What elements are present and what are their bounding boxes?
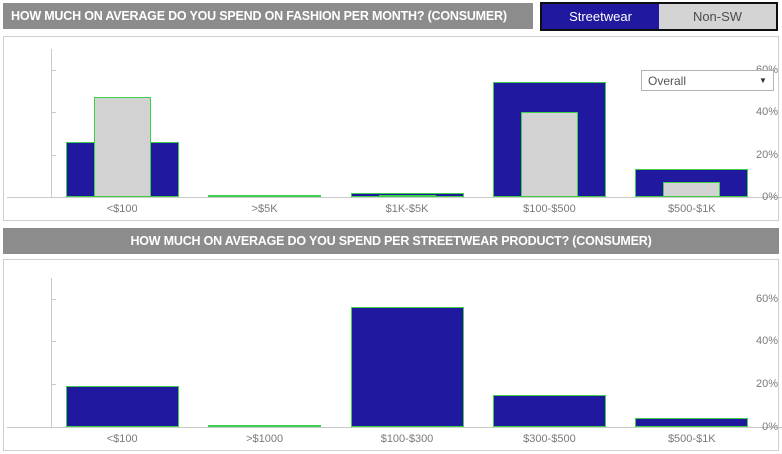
toggle-streetwear[interactable]: Streetwear	[542, 4, 659, 29]
y-axis-tick-mark	[51, 112, 56, 113]
bar-non-sw[interactable]	[521, 112, 578, 197]
plot-area-chart1: 0%20%40%60%<$100>$5K$1K-$5K$100-$500$500…	[4, 37, 778, 220]
bar-non-sw[interactable]	[236, 195, 293, 198]
bar-non-sw[interactable]	[663, 182, 720, 197]
segment-toggle-group: Streetwear Non-SW	[540, 2, 778, 31]
x-axis-tick-label: $100-$500	[523, 203, 576, 215]
y-axis-tick-mark	[51, 155, 56, 156]
chart-panel-spend-per-product: 0%20%40%60%<$100>$1000$100-$300$300-$500…	[3, 259, 779, 451]
y-axis-line	[51, 49, 52, 197]
x-axis-tick-label: $500-$1K	[668, 433, 716, 445]
x-axis-tick-label: $300-$500	[523, 433, 576, 445]
y-axis-tick-label: 40%	[737, 335, 778, 347]
x-axis-line	[7, 197, 782, 198]
y-axis-tick-mark	[51, 299, 56, 300]
y-axis-tick-label: 20%	[737, 149, 778, 161]
bar-non-sw[interactable]	[94, 97, 151, 197]
y-axis-tick-mark	[51, 70, 56, 71]
x-axis-tick-label: $1K-$5K	[386, 203, 429, 215]
x-axis-tick-label: <$100	[107, 433, 138, 445]
top-bar: HOW MUCH ON AVERAGE DO YOU SPEND ON FASH…	[0, 0, 782, 32]
page-title: HOW MUCH ON AVERAGE DO YOU SPEND ON FASH…	[3, 3, 533, 29]
page-title-2: HOW MUCH ON AVERAGE DO YOU SPEND PER STR…	[3, 228, 779, 254]
y-axis-tick-label: 40%	[737, 106, 778, 118]
x-axis-tick-label: $100-$300	[381, 433, 434, 445]
x-axis-tick-label: >$5K	[252, 203, 278, 215]
x-axis-tick-label: >$1000	[246, 433, 283, 445]
bar-streetwear[interactable]	[635, 418, 748, 427]
chart-panel-spend-per-month: 0%20%40%60%<$100>$5K$1K-$5K$100-$500$500…	[3, 36, 779, 221]
y-axis-tick-label: 20%	[737, 378, 778, 390]
bar-streetwear[interactable]	[493, 395, 606, 427]
y-axis-line	[51, 278, 52, 427]
bar-streetwear[interactable]	[351, 307, 464, 427]
x-axis-line	[7, 427, 782, 428]
toggle-non-sw[interactable]: Non-SW	[659, 4, 776, 29]
bar-streetwear[interactable]	[66, 386, 179, 427]
bar-streetwear[interactable]	[208, 425, 321, 428]
y-axis-tick-label: 60%	[737, 293, 778, 305]
y-axis-tick-mark	[51, 341, 56, 342]
x-axis-tick-label: <$100	[107, 203, 138, 215]
y-axis-tick-mark	[51, 384, 56, 385]
dropdown-selected-value: Overall	[642, 74, 753, 88]
bar-non-sw[interactable]	[379, 195, 436, 198]
plot-area-chart2: 0%20%40%60%<$100>$1000$100-$300$300-$500…	[4, 260, 778, 450]
chevron-down-icon: ▼	[753, 76, 773, 85]
overall-filter-dropdown[interactable]: Overall ▼	[641, 70, 774, 91]
x-axis-tick-label: $500-$1K	[668, 203, 716, 215]
